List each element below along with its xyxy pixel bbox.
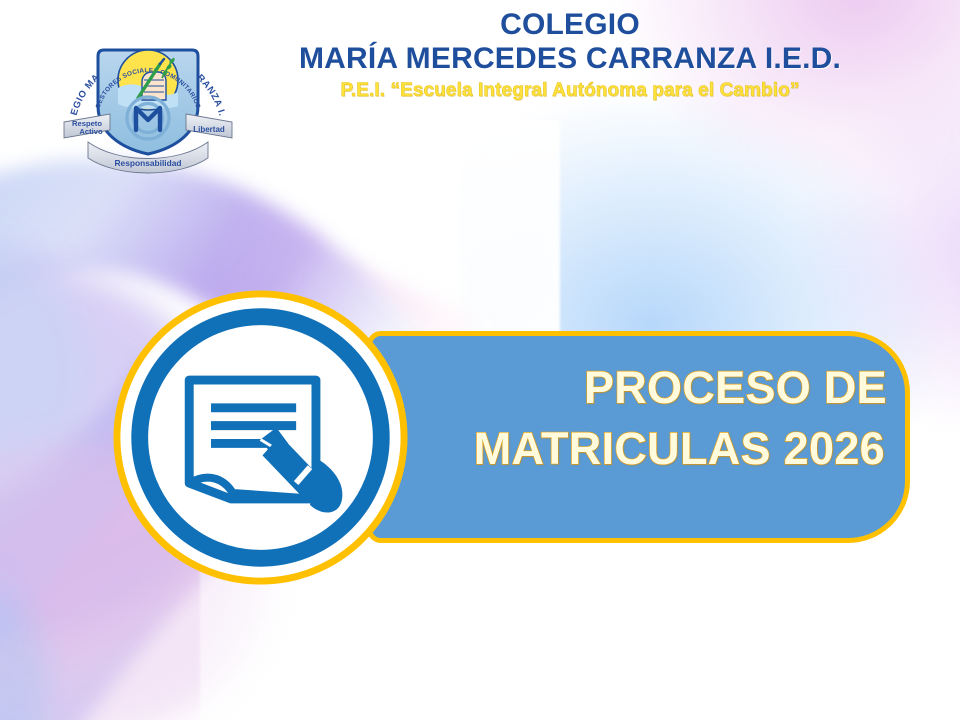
banner-text: PROCESO DE MATRICULAS 2026 [387,358,887,480]
header: COLEGIO MARÍA MERCEDES CARRANZA I.E.D. G… [0,0,960,150]
slide-canvas: COLEGIO MARÍA MERCEDES CARRANZA I.E.D. G… [0,0,960,720]
school-crest-emblem: COLEGIO MARÍA MERCEDES CARRANZA I.E.D. G… [58,14,238,174]
enrollment-icon-badge [112,289,409,586]
page-title-line1: COLEGIO [230,8,910,42]
matriculas-banner: PROCESO DE MATRICULAS 2026 [367,331,910,543]
badge-gold-ring [117,294,404,581]
banner-line-2: MATRICULAS 2026 [387,419,887,480]
header-title-block: COLEGIO MARÍA MERCEDES CARRANZA I.E.D. P… [230,8,910,102]
crest-ribbon-right: Libertad [193,125,225,134]
crest-ribbon-bottom: Responsabilidad [114,158,181,168]
pei-subtitle: P.E.I. “Escuela Integral Autónoma para e… [230,80,910,102]
crest-monogram [127,97,169,139]
crest-ribbon-left-line2: Activo [79,127,103,136]
page-title-line2: MARÍA MERCEDES CARRANZA I.E.D. [230,42,910,76]
banner-line-1: PROCESO DE [387,358,887,419]
